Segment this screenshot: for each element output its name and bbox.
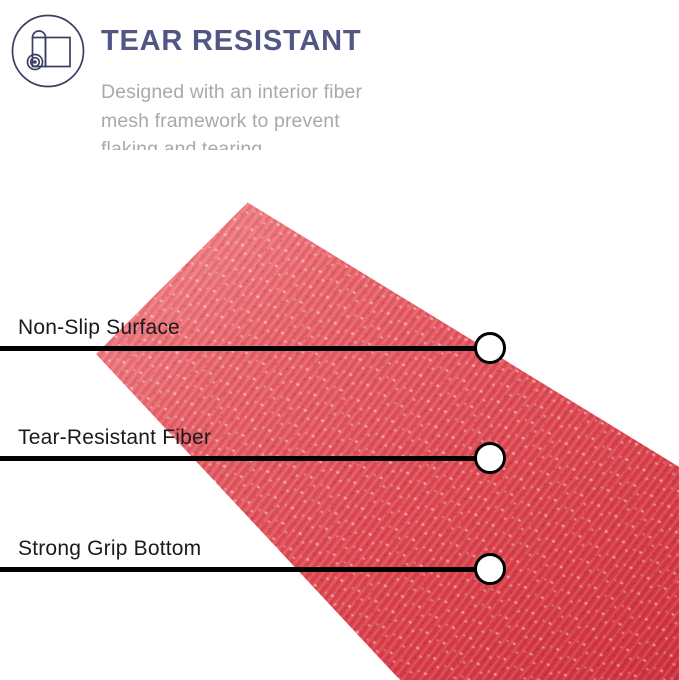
callout-leader-line (0, 346, 492, 351)
product-image (0, 150, 679, 680)
callout-marker-dot (474, 332, 506, 364)
callout-label: Non-Slip Surface (18, 316, 180, 340)
infographic-page: TEAR RESISTANT Designed with an interior… (0, 0, 679, 680)
rug-roll-icon (9, 12, 87, 90)
feature-header: TEAR RESISTANT Designed with an interior… (0, 0, 679, 175)
callout-marker-dot (474, 442, 506, 474)
description-line-2: mesh framework to prevent (101, 107, 461, 136)
callout-label: Tear-Resistant Fiber (18, 426, 211, 450)
callout-leader-line (0, 567, 492, 572)
callout-marker-dot (474, 553, 506, 585)
page-title: TEAR RESISTANT (101, 26, 361, 56)
callout-leader-line (0, 456, 492, 461)
product-layer-top-surface (0, 158, 679, 680)
description-line-1: Designed with an interior fiber (101, 78, 461, 107)
callout-label: Strong Grip Bottom (18, 537, 201, 561)
